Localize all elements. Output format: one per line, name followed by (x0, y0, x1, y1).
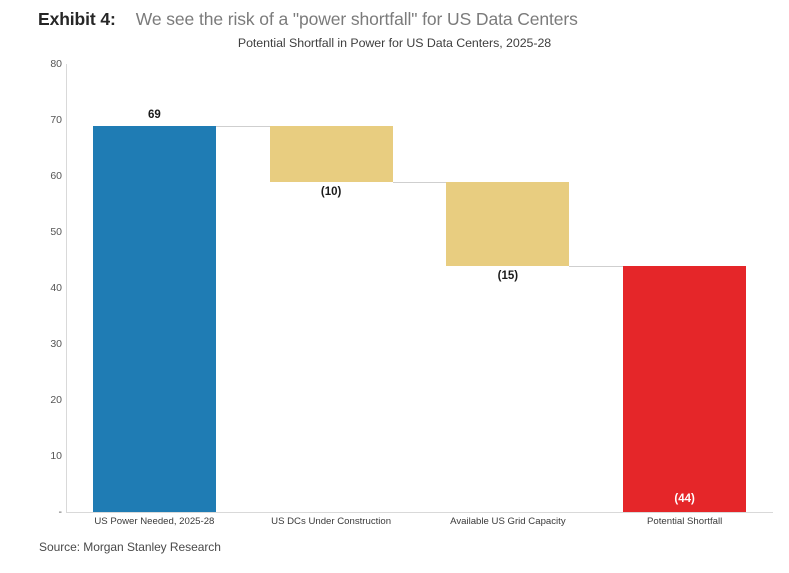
y-axis-tick: 70 (22, 114, 62, 126)
chart-title: We see the risk of a "power shortfall" f… (136, 9, 578, 30)
exhibit-number-label: Exhibit 4: (38, 9, 116, 30)
x-axis-line (66, 512, 773, 513)
bar-4 (623, 266, 746, 512)
plot-area: 69(10)(15)(44) (66, 64, 773, 512)
bar-2 (270, 126, 393, 182)
y-axis-tick: 80 (22, 58, 62, 70)
bar-value-label-3: (15) (446, 270, 569, 282)
y-axis-tick: 10 (22, 450, 62, 462)
x-axis-tick-4: Potential Shortfall (575, 516, 789, 527)
bar-3 (446, 182, 569, 266)
y-axis-tick: 40 (22, 282, 62, 294)
y-axis-tick: 50 (22, 226, 62, 238)
y-axis-tick: 20 (22, 394, 62, 406)
bar-value-label-4: (44) (623, 493, 746, 505)
waterfall-connector-step-3 (569, 266, 623, 267)
chart-page: Exhibit 4: We see the risk of a "power s… (0, 0, 789, 573)
source-note: Source: Morgan Stanley Research (39, 540, 221, 554)
bar-value-label-1: 69 (93, 109, 216, 121)
y-axis-tick: 60 (22, 170, 62, 182)
bar-value-label-2: (10) (270, 186, 393, 198)
waterfall-connector-1 (216, 126, 270, 127)
y-axis-tick: 30 (22, 338, 62, 350)
chart-header: Exhibit 4: We see the risk of a "power s… (38, 9, 578, 30)
waterfall-connector-step-2 (393, 182, 447, 183)
y-axis-tick-labels: -1020304050607080 (18, 64, 62, 512)
bar-1 (93, 126, 216, 512)
chart-subtitle: Potential Shortfall in Power for US Data… (0, 36, 789, 50)
